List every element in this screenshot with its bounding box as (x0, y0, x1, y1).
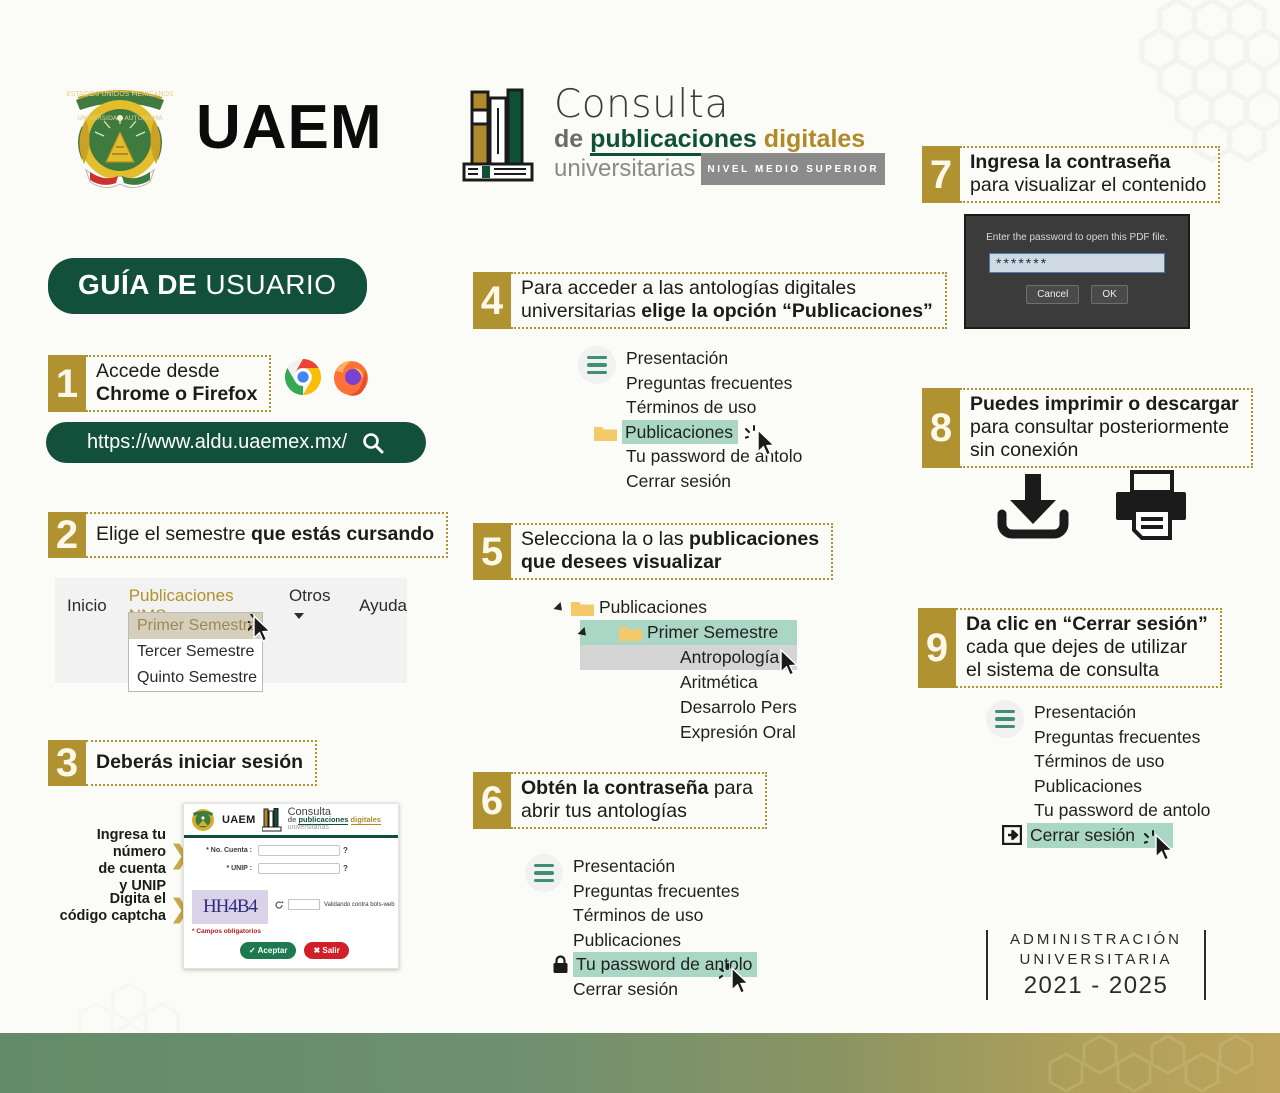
menubar-item-otros-label: Otros (289, 586, 331, 605)
annotation-cuenta-l2: de cuenta (46, 861, 166, 878)
step-8-number: 8 (922, 388, 960, 468)
site-menu-step4: Presentación Preguntas frecuentes Términ… (578, 346, 802, 494)
step-6-number: 6 (473, 772, 511, 829)
footer-honeycomb-pattern (1020, 1033, 1280, 1093)
pdf-dialog-prompt: Enter the password to open this PDF file… (986, 232, 1168, 243)
cursor-pointer-icon-step4 (752, 428, 782, 460)
menu-item-preguntas-frecuentes-label: Preguntas frecuentes (626, 371, 792, 396)
login-help-unip[interactable]: ? (343, 864, 348, 873)
step-3: 3 Deberás iniciar sesión (48, 740, 317, 786)
firefox-icon (332, 358, 370, 396)
step-6-line1-plain: para (708, 777, 752, 799)
svg-text:ESTADOS UNIDOS MEXICANOS: ESTADOS UNIDOS MEXICANOS (66, 90, 174, 98)
books-stack-icon-small (262, 808, 282, 832)
menu-item-terminos-de-uso[interactable]: Términos de uso (626, 395, 802, 420)
menu-item-cerrar-sesion-label: Cerrar sesión (626, 469, 731, 494)
download-icon[interactable] (992, 470, 1074, 542)
step-2-text: Elige el semestre que estás cursando (86, 512, 448, 558)
login-row-unip: * UNIP : ? (184, 863, 398, 874)
step-5-text: Selecciona la o las publicaciones que de… (511, 523, 833, 580)
login-card-de: de (288, 815, 299, 824)
menu-item-tu-password-9-label: Tu password de antolo (1034, 798, 1210, 823)
annotation-cuenta-l1: Ingresa tu número (46, 827, 166, 861)
consulta-nivel-badge: NIVEL MEDIO SUPERIOR (701, 153, 885, 185)
tree-node-antropologia[interactable]: Antropología (580, 645, 797, 670)
menu-item-tu-password-9[interactable]: Tu password de antolo (1034, 798, 1210, 823)
menu-item-preguntas-frecuentes-6[interactable]: Preguntas frecuentes (573, 879, 757, 904)
menu-item-presentacion-6[interactable]: Presentación (573, 854, 757, 879)
menu-item-publicaciones-9[interactable]: Publicaciones (1034, 774, 1210, 799)
login-accept-button[interactable]: ✓ Aceptar (240, 942, 296, 959)
search-icon[interactable] (361, 431, 385, 455)
url-text: https://www.aldu.uaemex.mx/ (87, 431, 347, 454)
login-input-unip[interactable] (258, 863, 340, 874)
tree-node-aritmetica-label: Aritmética (680, 670, 758, 695)
step-4-line2-bold: elige la opción “Publicaciones” (641, 300, 933, 322)
login-label-unip: * UNIP : (184, 865, 258, 872)
printer-icon[interactable] (1110, 470, 1192, 542)
site-menubar-screenshot: Inicio Publicaciones NMS Otros Ayuda Pri… (55, 578, 407, 683)
click-spark-icon (190, 607, 208, 625)
login-label-cuenta: * No. Cuenta : (184, 847, 258, 854)
captcha-image: HH4B4 (192, 890, 268, 924)
browser-icons (284, 358, 370, 396)
menu-item-preguntas-frecuentes-9[interactable]: Preguntas frecuentes (1034, 725, 1210, 750)
step-4-number: 4 (473, 272, 511, 329)
step-3-line1: Deberás iniciar sesión (96, 751, 303, 774)
login-row-cuenta: * No. Cuenta : ? (184, 845, 398, 856)
menu-item-presentacion[interactable]: Presentación (626, 346, 802, 371)
step-1-line1: Accede desde (96, 360, 257, 383)
hamburger-menu-icon[interactable] (525, 854, 563, 892)
lock-icon (552, 955, 569, 974)
step-5-number: 5 (473, 523, 511, 580)
tree-node-expresion-oral[interactable]: Expresión Oral (680, 720, 797, 745)
menu-item-presentacion-9[interactable]: Presentación (1034, 700, 1210, 725)
admin-footer: ADMINISTRACIÓN UNIVERSITARIA 2021 - 2025 (986, 930, 1206, 1000)
uaem-wordmark: UAEM (196, 92, 383, 163)
login-exit-button[interactable]: ✖ Salir (304, 942, 348, 959)
menubar-item-inicio[interactable]: Inicio (67, 596, 107, 616)
folder-icon (571, 599, 594, 616)
consulta-universitarias-row: universitariasNIVEL MEDIO SUPERIOR (554, 153, 894, 185)
step-9-number: 9 (918, 608, 956, 688)
hamburger-menu-icon[interactable] (578, 346, 616, 384)
menu-item-cerrar-sesion-6-label: Cerrar sesión (573, 977, 678, 1002)
logout-icon (1002, 825, 1022, 845)
tree-expand-arrow-icon[interactable] (553, 601, 565, 613)
menu-item-publicaciones-6[interactable]: Publicaciones (573, 928, 757, 953)
step-3-number: 3 (48, 740, 86, 786)
uaem-crest-icon-small (190, 807, 216, 833)
step-7-number: 7 (922, 146, 960, 203)
step-1-number: 1 (48, 355, 86, 412)
captcha-input[interactable] (288, 899, 320, 910)
step-2: 2 Elige el semestre que estás cursando (48, 512, 448, 558)
step-8-text: Puedes imprimir o descargar para consult… (960, 388, 1253, 468)
cursor-pointer-icon (248, 614, 278, 646)
login-input-cuenta[interactable] (258, 845, 340, 856)
download-print-icons (992, 470, 1192, 542)
annotation-captcha-l1: Digita el (46, 891, 166, 908)
tree-node-publicaciones[interactable]: Publicaciones (556, 595, 797, 620)
step-7-line2: para visualizar el contenido (970, 174, 1206, 197)
menu-item-terminos-de-uso-9[interactable]: Términos de uso (1034, 749, 1210, 774)
tree-node-desarrolo-pers[interactable]: Desarrolo Pers (680, 695, 797, 720)
footer-gradient-bar (0, 1033, 1280, 1093)
login-card-dig: digitales (351, 815, 381, 825)
admin-line3: 2021 - 2025 (1010, 972, 1182, 1000)
tree-expand-arrow-icon-2[interactable] (577, 626, 589, 638)
dropdown-item-quinto-semestre[interactable]: Quinto Semestre (129, 665, 262, 691)
menu-item-terminos-de-uso-9-label: Términos de uso (1034, 749, 1164, 774)
menu-item-cerrar-sesion[interactable]: Cerrar sesión (626, 469, 802, 494)
step-1-line2: Chrome o Firefox (96, 383, 257, 406)
tree-node-primer-semestre[interactable]: Primer Semestre (580, 620, 797, 645)
step-8-line2: para consultar posteriormente (970, 416, 1239, 439)
step-4-line2-plain: universitarias (521, 300, 641, 322)
publications-tree: Publicaciones Primer Semestre Antropolog… (556, 595, 797, 745)
login-form-screenshot: UAEM Consulta de publicaciones digitales… (183, 803, 399, 969)
step-9-line2: cada que dejes de utilizar (966, 636, 1208, 659)
consulta-digitales: digitales (764, 125, 865, 156)
login-card-uaem: UAEM (222, 814, 256, 826)
annotation-cuenta: Ingresa tu número de cuenta y UNIP (46, 827, 166, 895)
consulta-subtitle: de publicaciones digitales (554, 126, 894, 153)
tree-node-publicaciones-label: Publicaciones (599, 595, 707, 620)
menu-item-preguntas-frecuentes[interactable]: Preguntas frecuentes (626, 371, 802, 396)
step-6-line2: abrir tus antologías (521, 800, 753, 823)
step-4-text: Para acceder a las antologías digitales … (511, 272, 947, 329)
tree-node-primer-semestre-label: Primer Semestre (647, 620, 778, 645)
annotation-captcha: Digita el código captcha (46, 891, 166, 925)
login-card-consulta-3: universitarias (288, 824, 381, 832)
admin-line1: ADMINISTRACIÓN (1010, 930, 1182, 950)
pdf-password-dialog: Enter the password to open this PDF file… (964, 214, 1190, 329)
pdf-cancel-button[interactable]: Cancel (1026, 285, 1079, 304)
chevron-down-icon (294, 613, 304, 619)
step-5-line2-bold: que desees visualizar (521, 551, 722, 573)
menu-item-terminos-de-uso-6-label: Términos de uso (573, 903, 703, 928)
annotation-captcha-l2: código captcha (46, 908, 166, 925)
dropdown-item-tercer-semestre[interactable]: Tercer Semestre (129, 639, 262, 665)
pdf-password-input[interactable]: ******* (989, 253, 1165, 273)
tree-node-antropologia-label: Antropología (680, 645, 779, 670)
step-5: 5 Selecciona la o las publicaciones que … (473, 523, 833, 580)
menu-item-terminos-de-uso-6[interactable]: Términos de uso (573, 903, 757, 928)
step-8-line1: Puedes imprimir o descargar (970, 393, 1239, 416)
step-7-line1: Ingresa la contraseña (970, 151, 1206, 174)
url-bar[interactable]: https://www.aldu.uaemex.mx/ (46, 422, 426, 463)
menu-item-presentacion-label: Presentación (626, 346, 728, 371)
page-title-bold: GUÍA DE (78, 269, 205, 300)
menu-item-presentacion-6-label: Presentación (573, 854, 675, 879)
menu-item-publicaciones-label: Publicaciones (622, 420, 738, 445)
step-2-number: 2 (48, 512, 86, 558)
menu-item-terminos-de-uso-label: Términos de uso (626, 395, 756, 420)
menu-item-preguntas-frecuentes-6-label: Preguntas frecuentes (573, 879, 739, 904)
cursor-pointer-icon-step9 (1150, 833, 1180, 865)
step-8: 8 Puedes imprimir o descargar para consu… (922, 388, 1253, 468)
site-menu-step9: Presentación Preguntas frecuentes Términ… (986, 700, 1210, 848)
step-9-line3: el sistema de consulta (966, 659, 1208, 682)
login-card-consulta-2: de publicaciones digitales (288, 816, 381, 824)
login-exit-label: Salir (322, 946, 339, 955)
menu-item-publicaciones-6-label: Publicaciones (573, 928, 681, 953)
menu-item-preguntas-frecuentes-9-label: Preguntas frecuentes (1034, 725, 1200, 750)
step-4-line1: Para acceder a las antologías digitales (521, 277, 933, 300)
step-1-text: Accede desde Chrome o Firefox (86, 355, 271, 412)
step-6-line1-bold: Obtén la contraseña (521, 777, 708, 799)
step-7-text: Ingresa la contraseña para visualizar el… (960, 146, 1220, 203)
captcha-note: Validando contra bots-web (324, 902, 395, 908)
step-8-line3: sin conexión (970, 439, 1239, 462)
menubar-item-ayuda[interactable]: Ayuda (359, 596, 407, 616)
consulta-universitarias: universitarias (554, 155, 695, 182)
pdf-ok-button[interactable]: OK (1091, 285, 1127, 304)
hamburger-menu-icon[interactable] (986, 700, 1024, 738)
login-card-consulta: Consulta de publicaciones digitales univ… (288, 808, 381, 832)
step-9: 9 Da clic en “Cerrar sesión” cada que de… (918, 608, 1222, 688)
consulta-de: de (554, 125, 590, 153)
step-9-text: Da clic en “Cerrar sesión” cada que deje… (956, 608, 1222, 688)
step-7: 7 Ingresa la contraseña para visualizar … (922, 146, 1220, 203)
step-5-line1-plain: Selecciona la o las (521, 528, 689, 550)
tree-node-desarrolo-pers-label: Desarrolo Pers (680, 695, 797, 720)
login-help-cuenta[interactable]: ? (343, 846, 348, 855)
folder-icon (594, 424, 617, 441)
login-buttons: ✓ Aceptar ✖ Salir (240, 942, 349, 959)
step-6: 6 Obtén la contraseña para abrir tus ant… (473, 772, 767, 829)
page-title: GUÍA DE USUARIO (48, 258, 367, 314)
folder-icon (619, 624, 642, 641)
step-9-line1: Da clic en “Cerrar sesión” (966, 613, 1208, 636)
step-2-line1-plain: Elige el semestre (96, 523, 251, 545)
login-required-note: * Campos obligatorios (192, 928, 261, 935)
step-3-text: Deberás iniciar sesión (86, 740, 317, 786)
consulta-publicaciones: publicaciones (590, 125, 757, 156)
admin-line2: UNIVERSITARIA (1010, 950, 1182, 970)
step-1: 1 Accede desde Chrome o Firefox (48, 355, 271, 412)
page-title-rest: USUARIO (205, 269, 336, 300)
menu-item-presentacion-9-label: Presentación (1034, 700, 1136, 725)
pdf-dialog-buttons: Cancel OK (1026, 285, 1128, 304)
step-6-text: Obtén la contraseña para abrir tus antol… (511, 772, 767, 829)
menubar-item-otros[interactable]: Otros (289, 586, 337, 626)
refresh-icon[interactable] (274, 900, 284, 910)
cursor-pointer-icon-step5 (775, 648, 805, 680)
books-stack-icon (462, 88, 544, 184)
uaem-crest-icon: ESTADOS UNIDOS MEXICANOS UNIVERSIDAD AUT… (56, 74, 184, 200)
consulta-title: Consulta (554, 84, 894, 126)
login-accept-label: Aceptar (258, 946, 288, 955)
step-4: 4 Para acceder a las antologías digitale… (473, 272, 947, 329)
step-5-line1-bold: publicaciones (689, 528, 819, 550)
chrome-icon (284, 358, 322, 396)
tree-node-expresion-oral-label: Expresión Oral (680, 720, 796, 745)
captcha-controls: Validando contra bots-web (274, 899, 395, 910)
cursor-pointer-icon-step6 (726, 966, 756, 998)
login-card-header: UAEM Consulta de publicaciones digitales… (184, 804, 398, 838)
step-2-line1-bold: que estás cursando (251, 523, 434, 545)
menu-item-publicaciones-9-label: Publicaciones (1034, 774, 1142, 799)
